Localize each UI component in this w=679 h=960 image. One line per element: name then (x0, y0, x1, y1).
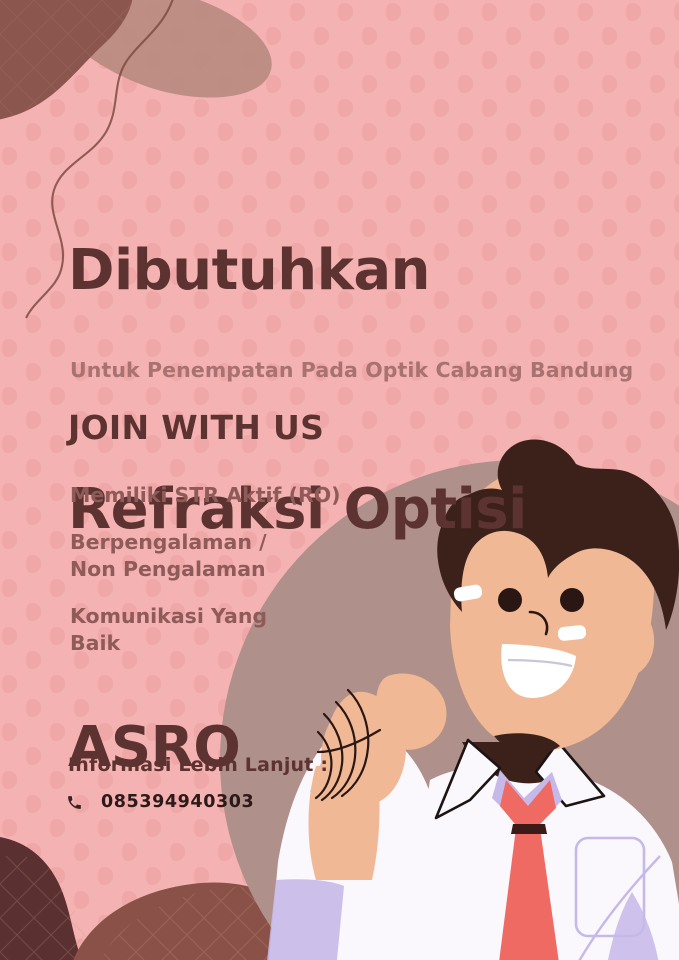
poster-content: Dibutuhkan Refraksi Optisi ASRO Untuk Pe… (0, 0, 679, 960)
headline-line-1: Dibutuhkan (68, 231, 527, 311)
placement-subheadline: Untuk Penempatan Pada Optik Cabang Bandu… (70, 358, 633, 382)
contact-phone-number: 085394940303 (101, 792, 254, 812)
requirement-item: Memiliki STR Aktif (RO) (70, 482, 370, 509)
call-to-action-heading: JOIN WITH US (68, 408, 324, 447)
requirement-item: Berpengalaman / Non Pengalaman (70, 529, 370, 583)
contact-phone-row[interactable]: 085394940303 (66, 792, 254, 812)
requirements-list: Memiliki STR Aktif (RO) Berpengalaman / … (70, 482, 370, 677)
job-vacancy-poster: Dibutuhkan Refraksi Optisi ASRO Untuk Pe… (0, 0, 679, 960)
phone-icon (66, 794, 83, 811)
contact-label: Informasi Lebih Lanjut : (68, 754, 328, 776)
requirement-item: Komunikasi Yang Baik (70, 603, 370, 657)
